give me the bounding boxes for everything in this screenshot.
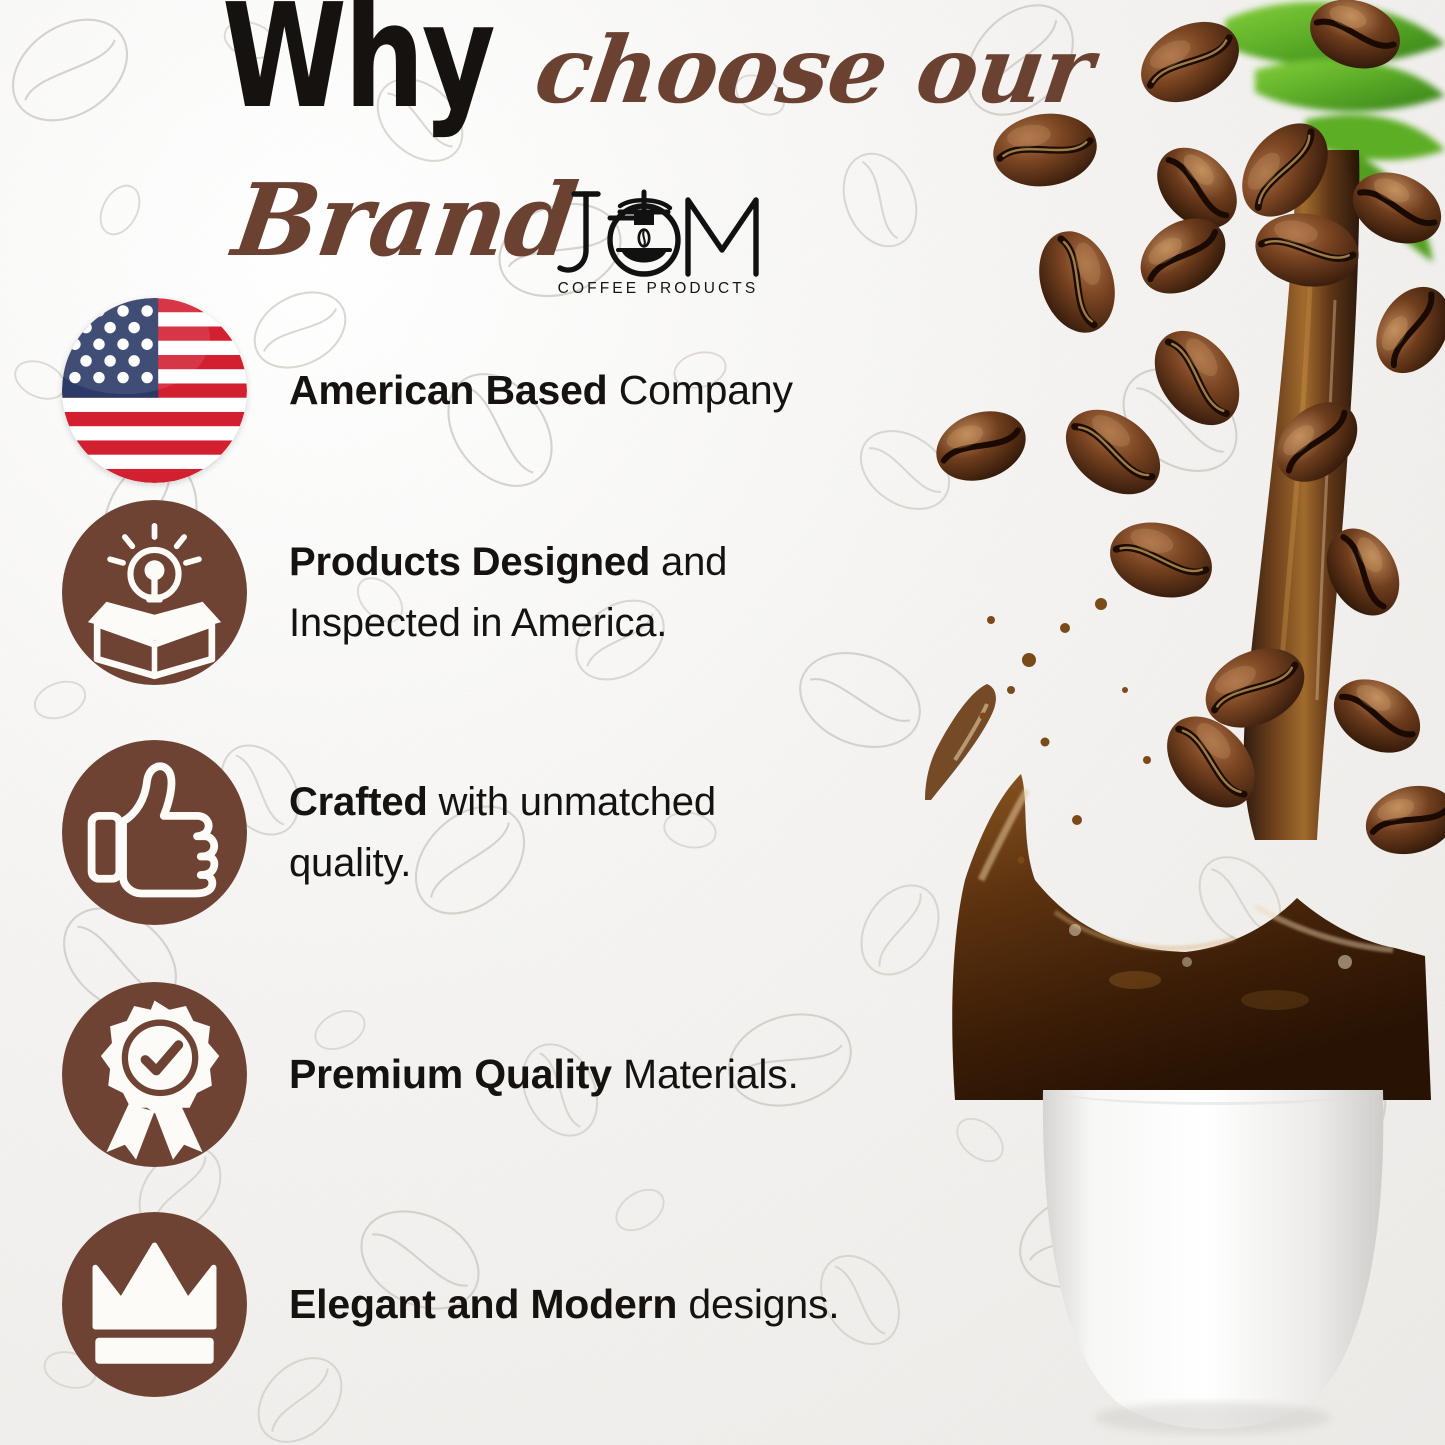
brand-logo: COFFEE PRODUCTS	[548, 188, 768, 306]
feature-bold-text: Products Designed	[289, 540, 650, 584]
crown-icon	[62, 1212, 247, 1397]
box-lightbulb-icon	[62, 500, 247, 685]
feature-regular-text: Materials.	[612, 1051, 799, 1097]
feature-second-line: quality.	[289, 833, 716, 894]
feature-bold-text: Premium Quality	[289, 1051, 612, 1097]
jom-logo-mark-icon	[548, 188, 768, 284]
award-badge-icon	[62, 982, 247, 1167]
feature-text: Elegant and Modern designs.	[289, 1273, 840, 1335]
feature-regular-text: designs.	[677, 1281, 839, 1327]
feature-row-products-designed: Products Designed and Inspected in Ameri…	[62, 500, 727, 685]
feature-regular-text: and	[650, 540, 727, 584]
feature-second-line: Inspected in America.	[289, 593, 727, 654]
thumbs-up-icon	[62, 740, 247, 925]
feature-text: Premium Quality Materials.	[289, 1043, 799, 1105]
feature-bold-text: American Based	[289, 367, 608, 413]
feature-text: American Based Company	[289, 359, 793, 421]
headline-word-choose-our: choose our	[530, 24, 1098, 116]
feature-bold-text: Crafted	[289, 780, 428, 824]
coffee-photo-composition	[925, 0, 1445, 1445]
headline-word-brand: Brand	[228, 170, 582, 270]
headline-line-1: Whychoose our	[222, 10, 1085, 128]
poster-canvas: Whychoose our Brand CO	[0, 0, 1445, 1445]
feature-text: Crafted with unmatched quality.	[289, 772, 716, 894]
us-flag-circle-icon	[62, 298, 247, 483]
feature-bold-text: Elegant and Modern	[289, 1281, 677, 1327]
feature-text: Products Designed and Inspected in Ameri…	[289, 532, 727, 654]
feature-row-american-based: American Based Company	[62, 298, 793, 483]
headline-line-2: Brand	[228, 170, 568, 270]
feature-row-crafted: Crafted with unmatched quality.	[62, 740, 716, 925]
logo-tagline: COFFEE PRODUCTS	[548, 280, 768, 298]
feature-row-elegant-modern: Elegant and Modern designs.	[62, 1212, 840, 1397]
feature-row-premium-quality: Premium Quality Materials.	[62, 982, 799, 1167]
headline-word-why: Why	[222, 0, 493, 128]
feature-regular-text: with unmatched	[428, 780, 716, 824]
feature-regular-text: Company	[608, 367, 793, 413]
